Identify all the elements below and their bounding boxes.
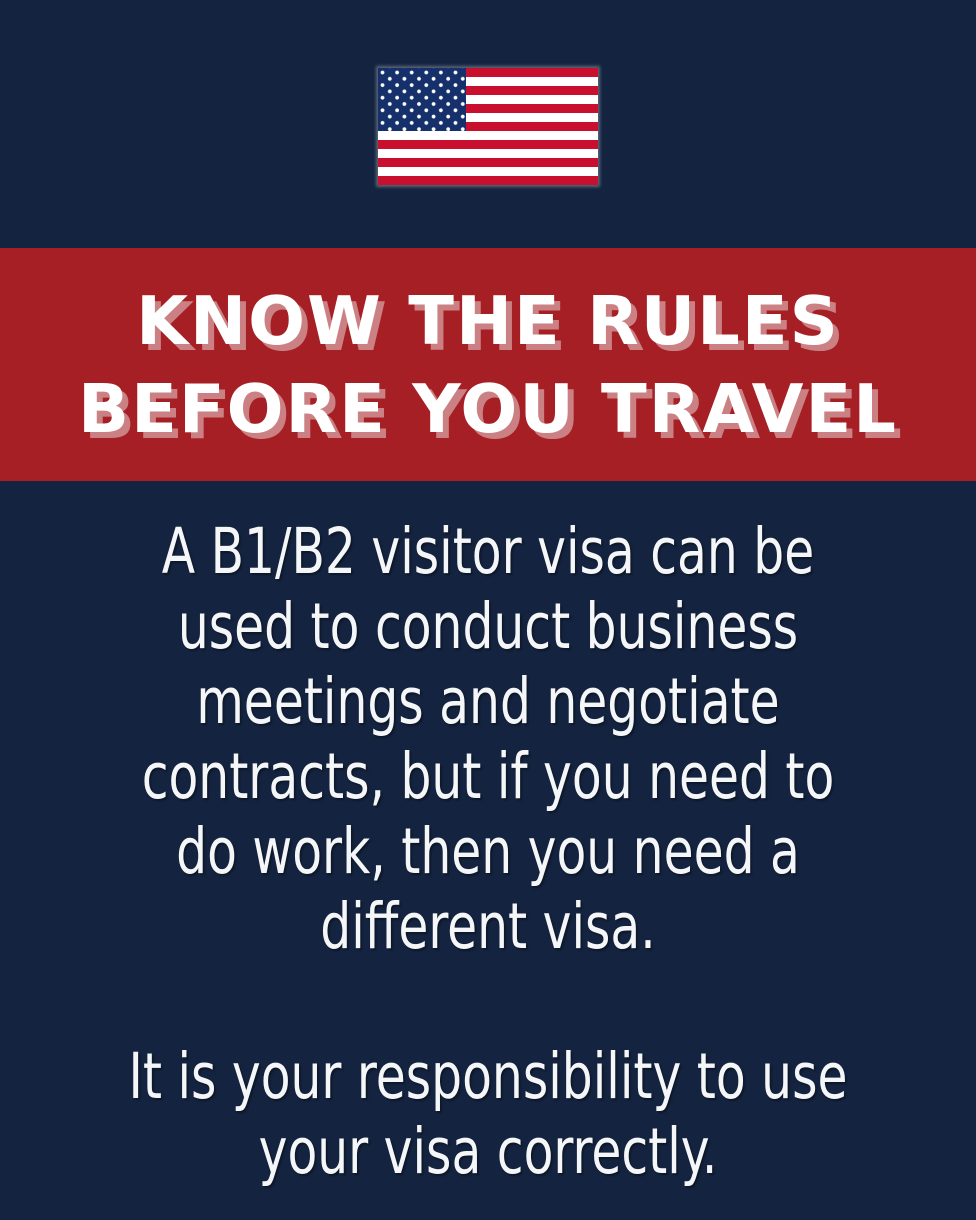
poster-canvas: KNOW THE RULES BEFORE YOU TRAVEL A B1/B2… bbox=[0, 0, 976, 1220]
flag-stars bbox=[378, 68, 466, 131]
us-flag-icon bbox=[378, 68, 598, 185]
body-paragraph-1: A B1/B2 visitor visa can be used to cond… bbox=[122, 514, 855, 964]
flag-canton bbox=[378, 68, 466, 131]
flag-container bbox=[0, 0, 976, 248]
headline-line-1: KNOW THE RULES bbox=[136, 277, 840, 365]
headline-line-2: BEFORE YOU TRAVEL bbox=[78, 365, 898, 453]
body-copy: A B1/B2 visitor visa can be used to cond… bbox=[0, 481, 976, 1220]
headline-banner: KNOW THE RULES BEFORE YOU TRAVEL bbox=[0, 248, 976, 481]
body-paragraph-2: It is your responsibility to use your vi… bbox=[122, 1039, 855, 1189]
